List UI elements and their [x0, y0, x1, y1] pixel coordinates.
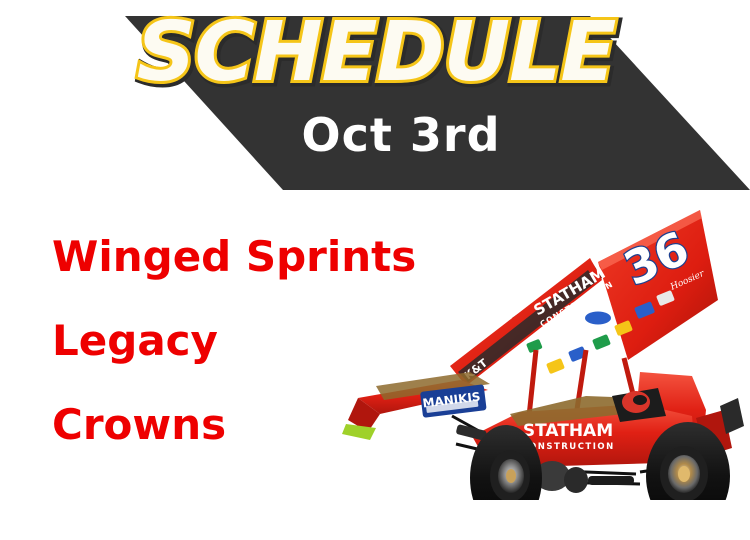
schedule-poster: SCHEDULE SCHEDULE SCHEDULE Oct 3rd Winge…: [0, 0, 750, 540]
class-list-item-0: Winged Sprints: [52, 236, 416, 278]
helmet-visor: [633, 395, 647, 405]
schedule-header-banner: [0, 0, 750, 210]
banner-polygon: [125, 16, 750, 190]
body-sponsor-line1: STATHAM: [523, 421, 613, 441]
class-list: Winged Sprints Legacy Crowns: [52, 236, 416, 446]
class-list-item-2: Crowns: [52, 404, 416, 446]
class-list-item-1: Legacy: [52, 320, 416, 362]
schedule-date: Oct 3rd: [0, 112, 750, 158]
